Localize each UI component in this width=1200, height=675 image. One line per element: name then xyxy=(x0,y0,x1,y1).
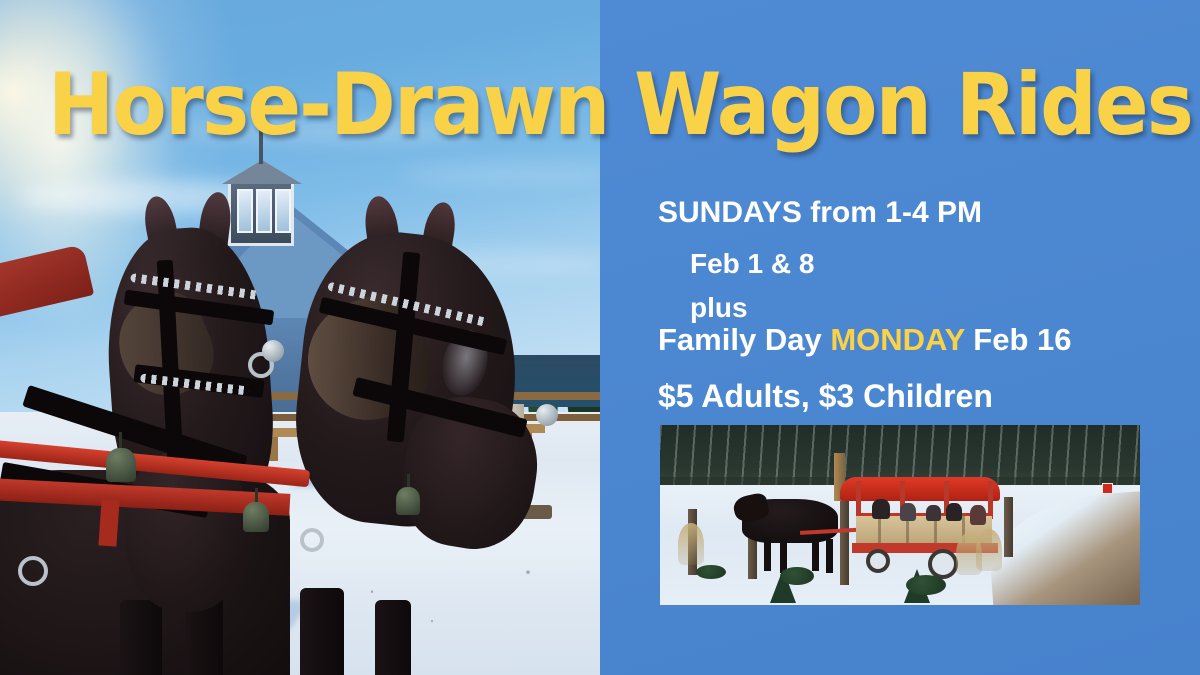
harness-ring xyxy=(300,528,324,552)
inset-rider xyxy=(900,503,916,521)
inset-rider xyxy=(872,499,890,519)
sleigh-bell xyxy=(243,502,269,532)
inset-horse-leg xyxy=(812,537,819,571)
dates-line: Feb 1 & 8 xyxy=(690,248,814,280)
inset-rider xyxy=(946,503,962,521)
poster-canvas: Horse-Drawn Wagon Rides SUNDAYS from 1-4… xyxy=(0,0,1200,675)
harness-ring xyxy=(18,556,48,586)
price-line: $5 Adults, $3 Children xyxy=(658,378,993,415)
cupola-window xyxy=(256,189,272,233)
evergreen-wreath xyxy=(696,565,726,579)
inset-horse-leg xyxy=(764,537,771,571)
inset-wagon-wheel xyxy=(928,549,958,579)
family-day-suffix: Feb 16 xyxy=(965,322,1072,357)
cupola-window xyxy=(237,189,253,233)
horse-leg xyxy=(120,600,162,675)
inset-rider xyxy=(970,505,986,525)
hame-knob xyxy=(536,404,558,426)
evergreen-wreath xyxy=(906,575,946,595)
horse-leg xyxy=(375,600,411,675)
family-day-line: Family Day MONDAY Feb 16 xyxy=(658,322,1072,358)
inset-wagon-canopy xyxy=(840,477,1000,501)
hame-knob xyxy=(262,340,284,362)
inset-horse-leg xyxy=(826,539,833,573)
horse-leg xyxy=(300,588,344,675)
cupola-window xyxy=(275,189,291,233)
family-day-prefix: Family Day xyxy=(658,322,830,357)
schedule-line: SUNDAYS from 1-4 PM xyxy=(658,196,982,230)
wagon-brace xyxy=(98,499,119,546)
inset-photo xyxy=(660,425,1140,605)
gate-post xyxy=(840,499,849,585)
dried-grass xyxy=(976,529,1002,571)
gate-post xyxy=(1004,497,1013,557)
evergreen-wreath xyxy=(780,567,814,585)
family-day-highlight: MONDAY xyxy=(830,322,964,357)
stop-sign-icon xyxy=(1102,483,1113,494)
sleigh-bell xyxy=(396,487,420,515)
dried-grass xyxy=(678,523,704,565)
page-title: Horse-Drawn Wagon Rides xyxy=(48,62,1152,148)
barn-cupola xyxy=(228,180,294,246)
inset-rider xyxy=(926,505,941,521)
sleigh-bell xyxy=(106,448,136,482)
inset-wagon-wheel xyxy=(866,549,890,573)
plus-line: plus xyxy=(690,292,748,324)
